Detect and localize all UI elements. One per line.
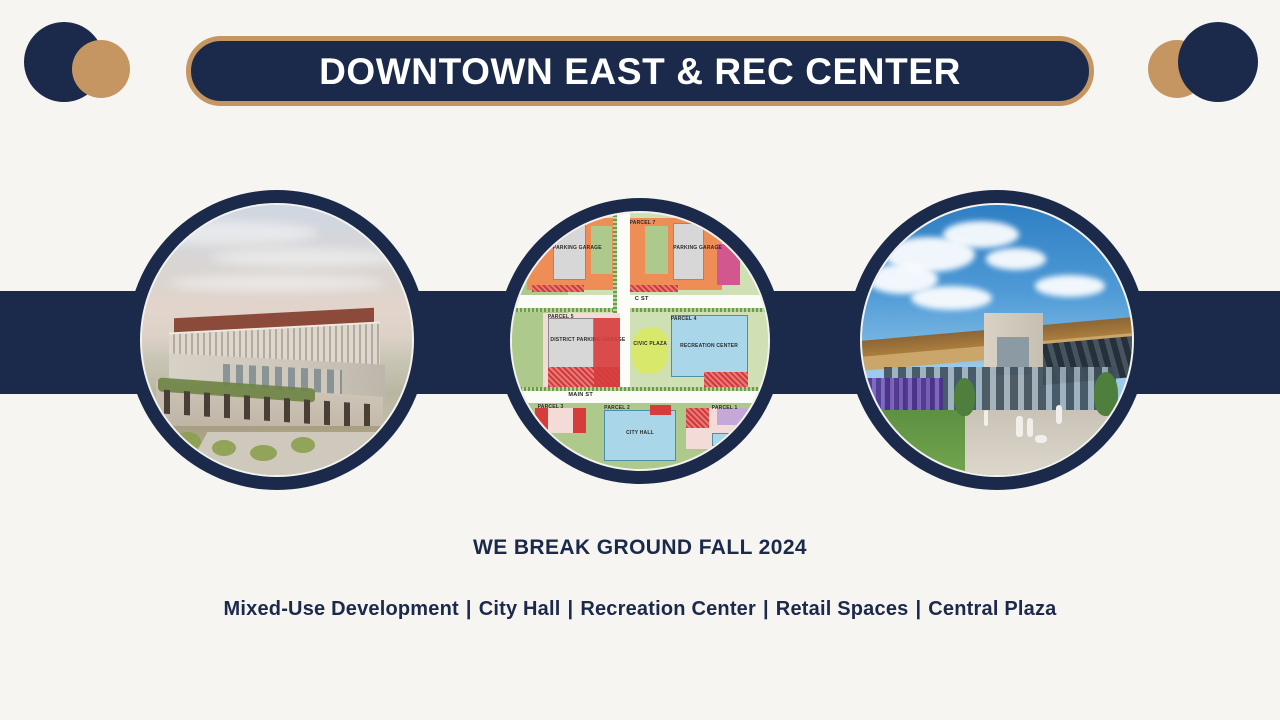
groundbreaking-tagline: WE BREAK GROUND FALL 2024 (0, 536, 1280, 560)
feature-item: Retail Spaces (776, 598, 909, 620)
feature-separator: | (561, 598, 581, 620)
feature-separator: | (908, 598, 928, 620)
site-plan-parcel-label: PARCEL 5 (548, 315, 594, 321)
image-frame: PARKING GARAGE PARKING GARAGE PARCEL 7 C… (512, 213, 768, 469)
site-plan-parcel-label: PARCEL 4 (671, 317, 717, 323)
mixed-use-building-rendering (142, 205, 412, 475)
site-plan-building-label: CITY HALL (614, 431, 665, 437)
site-plan-parcel-label: PARCEL 3 (538, 405, 584, 411)
site-plan-street-label: C ST (635, 296, 649, 302)
site-plan-parcel-label: PARCEL 1 (712, 406, 758, 412)
site-plan-building-label: RECREATION CENTER (673, 344, 745, 350)
site-plan-parcel-label: PARCEL 2 (604, 406, 650, 412)
decor-right-circles (1148, 22, 1258, 102)
feature-item: Central Plaza (928, 598, 1056, 620)
site-plan-building-label: PARKING GARAGE (553, 246, 586, 252)
feature-item: Recreation Center (580, 598, 756, 620)
feature-item: Mixed-Use Development (224, 598, 459, 620)
image-frame (142, 205, 412, 475)
navy-circle-icon (1178, 22, 1258, 102)
recreation-center-rendering (862, 205, 1132, 475)
page-title: DOWNTOWN EAST & REC CENTER (319, 53, 961, 90)
gold-circle-icon (72, 40, 130, 98)
gallery-item-mixed-use-building[interactable] (127, 190, 427, 490)
gallery-item-recreation-center[interactable] (847, 190, 1147, 490)
site-plan-building-label: DISTRICT PARKING GARAGE (550, 338, 591, 344)
slide-header: DOWNTOWN EAST & REC CENTER (0, 0, 1280, 140)
site-plan-building-label: PARKING GARAGE (673, 246, 704, 252)
feature-list: Mixed-Use Development|City Hall|Recreati… (0, 598, 1280, 621)
title-banner: DOWNTOWN EAST & REC CENTER (186, 36, 1094, 106)
site-plan-map: PARKING GARAGE PARKING GARAGE PARCEL 7 C… (512, 213, 768, 469)
image-frame (862, 205, 1132, 475)
feature-separator: | (459, 598, 479, 620)
site-plan-street-label: MAIN ST (568, 392, 593, 398)
feature-item: City Hall (479, 598, 561, 620)
decor-left-circles (24, 22, 134, 102)
slide-root: DOWNTOWN EAST & REC CENTER (0, 0, 1280, 720)
gallery-item-site-plan[interactable]: PARKING GARAGE PARKING GARAGE PARCEL 7 C… (497, 198, 783, 484)
site-plan-building-label: CIVIC PLAZA (630, 342, 671, 348)
feature-separator: | (756, 598, 776, 620)
